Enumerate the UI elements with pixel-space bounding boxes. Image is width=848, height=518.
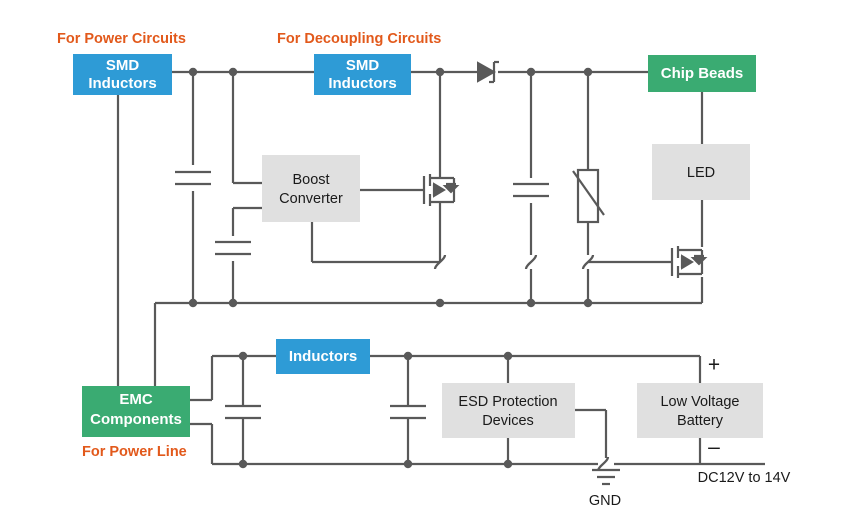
low-voltage-battery-label-line1: Low Voltage (660, 394, 739, 410)
junction-dot (584, 299, 592, 307)
led-label: LED (687, 165, 715, 181)
block-chip-beads[interactable]: Chip Beads (648, 55, 756, 92)
top-vertical-drops (118, 72, 702, 386)
low-voltage-battery-label-line2: Battery (677, 413, 724, 429)
cap-top-left-icon (175, 172, 211, 184)
upper-ground-bus (155, 303, 702, 386)
battery-plus-marker: + (708, 354, 720, 377)
cap-decoupling-icon (513, 184, 549, 196)
emc-components-label-line2: Components (90, 411, 182, 428)
circuit-diagram-root: SMD Inductors SMD Inductors Chip Beads L… (0, 0, 848, 518)
schematic-canvas: SMD Inductors SMD Inductors Chip Beads L… (0, 0, 848, 518)
block-inductors[interactable]: Inductors (276, 339, 370, 374)
junction-dot (239, 352, 247, 360)
smd-inductors-power-label-line2: Inductors (88, 75, 156, 92)
emc-components-label-line1: EMC (119, 391, 153, 408)
junction-dot (229, 68, 237, 76)
esd-protection-label-line1: ESD Protection (458, 394, 557, 410)
boost-converter-label-line2: Converter (279, 191, 343, 207)
esd-protection-label-line2: Devices (482, 413, 534, 429)
junction-dot (584, 68, 592, 76)
cap-emc-output-icon (225, 406, 261, 418)
boost-converter-label-line1: Boost (292, 172, 329, 188)
block-boost-converter[interactable]: Boost Converter (262, 155, 360, 222)
smd-inductors-decoupling-label-line1: SMD (346, 57, 380, 74)
block-esd-protection[interactable]: ESD Protection Devices (442, 383, 575, 438)
junction-dot (436, 68, 444, 76)
wire-crossing-hops (435, 255, 593, 269)
junction-dot (504, 460, 512, 468)
annotation-decoupling-circuits: For Decoupling Circuits (277, 31, 441, 47)
block-led[interactable]: LED (652, 144, 750, 200)
junction-dot (229, 299, 237, 307)
low-voltage-battery-box[interactable] (637, 383, 763, 438)
junction-dot (504, 352, 512, 360)
esd-protection-box[interactable] (442, 383, 575, 438)
annotation-power-line: For Power Line (82, 444, 187, 460)
battery-rating-label: DC12V to 14V (698, 470, 791, 486)
block-smd-inductors-power[interactable]: SMD Inductors (73, 54, 172, 95)
inductors-label: Inductors (289, 348, 357, 365)
battery-minus-marker: – (708, 436, 720, 459)
junction-dot (527, 68, 535, 76)
mosfet-led-driver-icon (588, 246, 705, 278)
junction-dot (404, 352, 412, 360)
smd-inductors-decoupling-label-line2: Inductors (328, 75, 396, 92)
schottky-diode-icon (478, 62, 499, 82)
boost-converter-box[interactable] (262, 155, 360, 222)
smd-inductors-power-label-line1: SMD (106, 57, 140, 74)
annotation-power-circuits: For Power Circuits (57, 31, 186, 47)
junction-dot (436, 299, 444, 307)
varistor-icon (573, 170, 604, 222)
block-smd-inductors-decoupling[interactable]: SMD Inductors (314, 54, 411, 95)
junction-dot (239, 460, 247, 468)
junction-dot (189, 299, 197, 307)
ground-icon (592, 470, 620, 484)
junction-dot (404, 460, 412, 468)
ground-label: GND (589, 493, 621, 509)
block-emc-components[interactable]: EMC Components (82, 386, 190, 437)
mosfet-boost-switch-icon (424, 172, 457, 262)
cap-boost-input-icon (215, 242, 251, 254)
junction-dot (527, 299, 535, 307)
block-low-voltage-battery[interactable]: Low Voltage Battery (637, 383, 763, 438)
cap-inductor-output-icon (390, 406, 426, 418)
junction-dot (189, 68, 197, 76)
chip-beads-label: Chip Beads (661, 65, 744, 82)
